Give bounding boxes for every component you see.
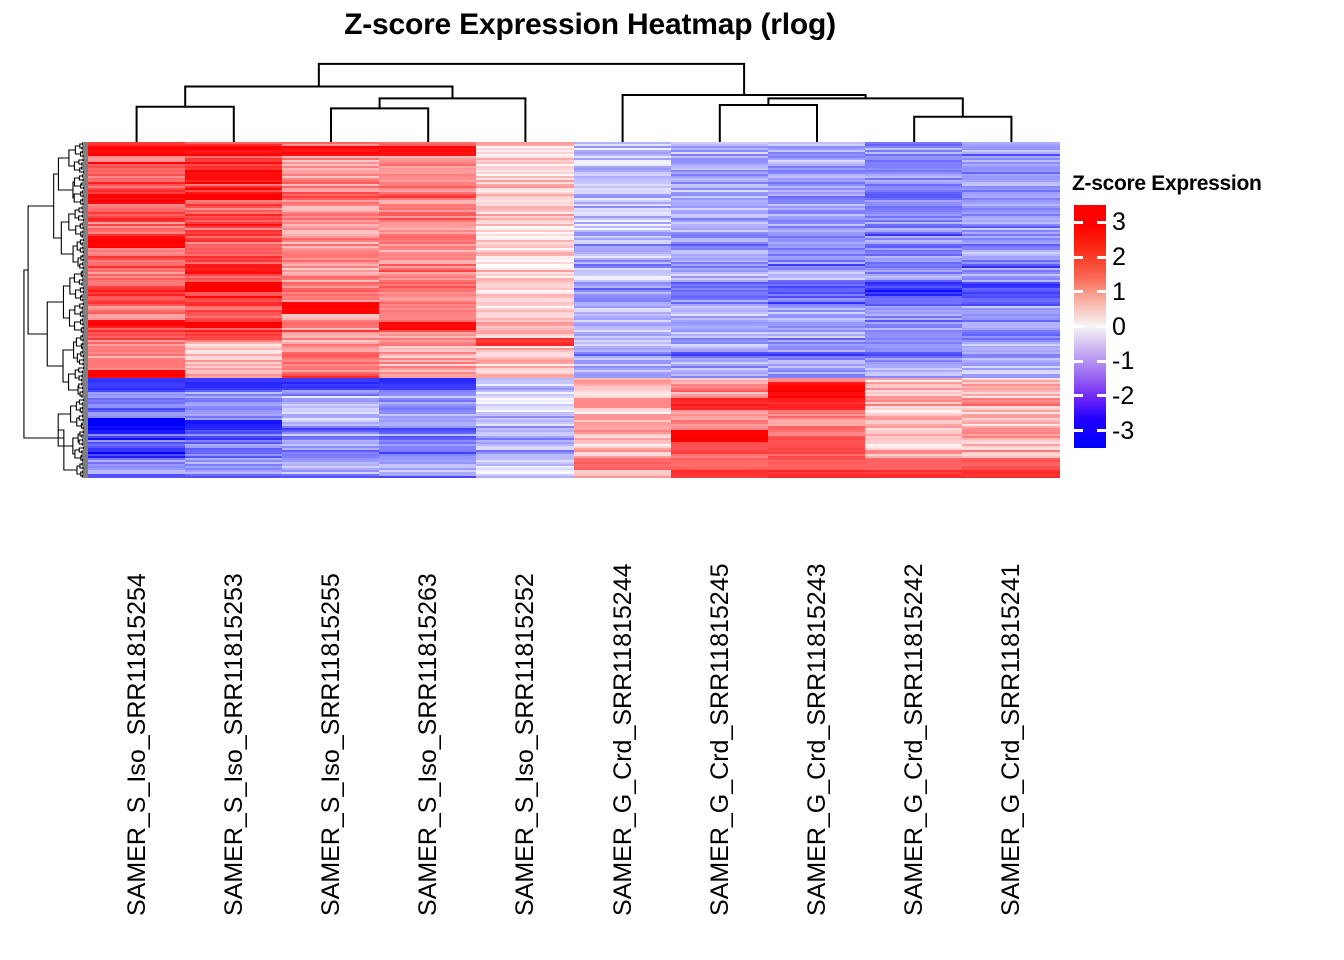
legend-tick-mark <box>1097 221 1106 224</box>
column-label-text: SAMER_G_Crd_SRR11815245 <box>707 563 733 916</box>
legend-tick-mark <box>1074 325 1083 328</box>
legend-tick-mark <box>1097 325 1106 328</box>
legend-tick-label: -1 <box>1112 349 1134 374</box>
column-label-4: SAMER_S_Iso_SRR11815252 <box>512 486 538 916</box>
legend-tick-label: 1 <box>1112 280 1126 305</box>
row-dendrogram-link <box>73 438 78 454</box>
legend-tick-mark <box>1074 429 1083 432</box>
dendrogram-link <box>768 98 962 116</box>
column-label-text: SAMER_S_Iso_SRR11815253 <box>221 573 247 916</box>
row-dendrogram-link <box>54 174 62 238</box>
row-dendrogram-link <box>74 194 81 202</box>
dendrogram-link <box>137 107 234 142</box>
column-label-3: SAMER_S_Iso_SRR11815263 <box>415 486 441 916</box>
dendrogram-link <box>914 117 1011 142</box>
legend-tick-label: 3 <box>1112 210 1126 235</box>
column-label-9: SAMER_G_Crd_SRR11815241 <box>998 486 1024 916</box>
heatmap-figure: Z-score Expression Heatmap (rlog) SAMER_… <box>0 0 1344 960</box>
legend-tick-mark <box>1074 290 1083 293</box>
column-label-7: SAMER_G_Crd_SRR11815243 <box>804 486 830 916</box>
row-dendrogram-link <box>58 430 77 470</box>
column-label-text: SAMER_G_Crd_SRR11815241 <box>998 563 1024 916</box>
column-label-5: SAMER_G_Crd_SRR11815244 <box>610 486 636 916</box>
column-label-1: SAMER_S_Iso_SRR11815253 <box>221 486 247 916</box>
legend-tick-mark <box>1097 360 1106 363</box>
legend-tick-mark <box>1074 256 1083 259</box>
legend-title: Z-score Expression <box>1072 172 1332 196</box>
column-label-8: SAMER_G_Crd_SRR11815242 <box>901 486 927 916</box>
legend-tick-label: 2 <box>1112 245 1126 270</box>
legend-tick-mark <box>1074 360 1083 363</box>
row-dendrogram-link <box>58 158 73 190</box>
dendrogram-link <box>720 105 817 142</box>
legend-tick-mark <box>1097 429 1106 432</box>
column-label-text: SAMER_S_Iso_SRR11815252 <box>512 573 538 916</box>
dendrogram-link <box>185 87 452 107</box>
row-dendrogram-link <box>75 450 81 458</box>
legend-tick-mark <box>1074 221 1083 224</box>
page-title: Z-score Expression Heatmap (rlog) <box>0 8 1180 42</box>
heatmap-cells[interactable] <box>88 142 1060 478</box>
column-label-text: SAMER_G_Crd_SRR11815242 <box>901 563 927 916</box>
row-dendrogram-link <box>76 290 81 298</box>
column-label-2: SAMER_S_Iso_SRR11815255 <box>318 486 344 916</box>
legend-tick-mark <box>1097 394 1106 397</box>
row-dendrogram-link <box>24 270 64 438</box>
row-dendrogram-link <box>69 374 78 390</box>
legend-tick-label: -3 <box>1112 419 1134 444</box>
heatmap-grid[interactable] <box>88 142 1060 478</box>
column-label-text: SAMER_S_Iso_SRR11815254 <box>124 573 150 916</box>
column-label-6: SAMER_G_Crd_SRR11815245 <box>707 486 733 916</box>
dendrogram-link <box>380 98 526 142</box>
row-dendrogram-link <box>28 206 54 334</box>
column-label-text: SAMER_G_Crd_SRR11815244 <box>610 563 636 916</box>
legend-tick-mark <box>1097 290 1106 293</box>
row-dendrogram-link <box>47 302 63 366</box>
legend-tick-mark <box>1074 394 1083 397</box>
legend-tick-mark <box>1097 256 1106 259</box>
dendrogram-link <box>319 64 744 95</box>
dendrogram-link <box>331 108 428 142</box>
legend-tick-label: -2 <box>1112 384 1134 409</box>
column-label-text: SAMER_S_Iso_SRR11815255 <box>318 573 344 916</box>
legend-tick-label: 0 <box>1112 315 1126 340</box>
column-label-text: SAMER_S_Iso_SRR11815263 <box>415 573 441 916</box>
row-dendrogram <box>18 142 88 478</box>
dendrogram-link <box>623 95 866 142</box>
row-dendrogram-link <box>74 274 81 282</box>
row-dendrogram-link <box>61 222 73 254</box>
column-label-text: SAMER_G_Crd_SRR11815243 <box>804 563 830 916</box>
row-dendrogram-link <box>63 286 69 318</box>
column-dendrogram <box>88 58 1060 142</box>
color-legend: Z-score Expression 3210-1-2-3 <box>1072 172 1332 455</box>
legend-body: 3210-1-2-3 <box>1072 205 1332 455</box>
column-label-0: SAMER_S_Iso_SRR11815254 <box>124 486 150 916</box>
